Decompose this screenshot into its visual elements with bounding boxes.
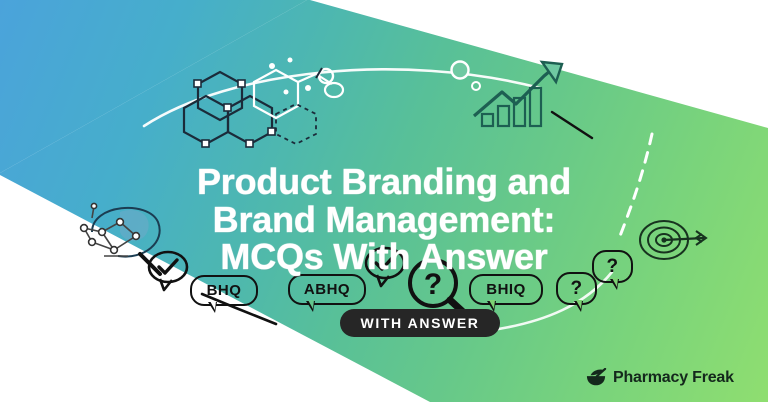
featured-image-canvas: ? BHQ ABHQ BHIQ ? ? Product Branding and… bbox=[0, 0, 768, 402]
brand-logo: Pharmacy Freak bbox=[585, 368, 734, 388]
mortar-and-pestle-icon bbox=[585, 368, 607, 388]
bhiq-bubble: BHIQ bbox=[469, 274, 543, 305]
abhq-bubble: ABHQ bbox=[288, 274, 366, 305]
with-answer-badge: WITH ANSWER bbox=[340, 309, 500, 337]
title-line-3: MCQs With Answer bbox=[0, 238, 768, 275]
abhq-bubble-label: ABHQ bbox=[304, 281, 350, 298]
bhq-bubble-label: BHQ bbox=[207, 282, 242, 299]
title-line-1: Product Branding and bbox=[0, 163, 768, 200]
bhq-bubble: BHQ bbox=[190, 275, 258, 306]
bubble-tail bbox=[610, 279, 619, 290]
bubble-tail bbox=[306, 301, 315, 312]
brand-logo-text: Pharmacy Freak bbox=[613, 369, 734, 387]
question-bubble-1: ? bbox=[556, 272, 597, 305]
title-line-2: Brand Management: bbox=[0, 201, 768, 238]
page-title: Product Branding and Brand Management: M… bbox=[0, 163, 768, 275]
with-answer-badge-label: WITH ANSWER bbox=[361, 315, 480, 331]
bubble-tail bbox=[574, 301, 583, 312]
question-bubble-1-label: ? bbox=[570, 278, 582, 300]
bubble-tail bbox=[208, 302, 217, 313]
bhiq-bubble-label: BHIQ bbox=[486, 281, 526, 298]
